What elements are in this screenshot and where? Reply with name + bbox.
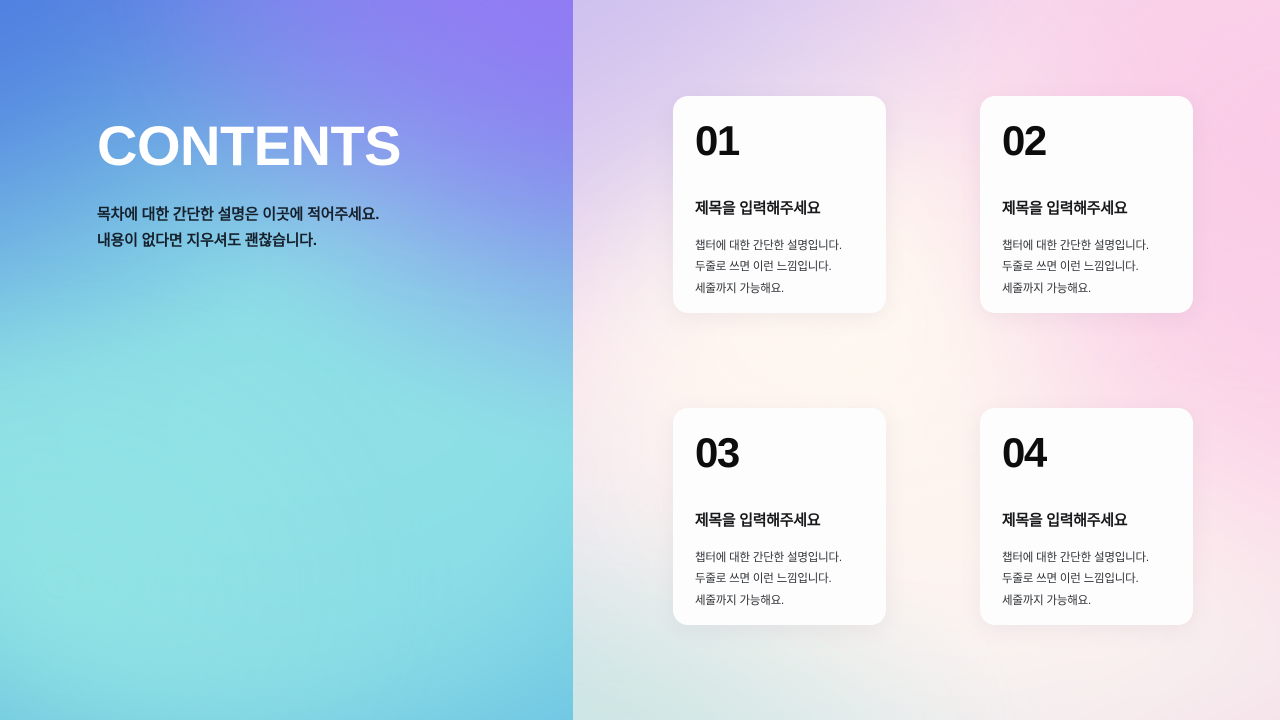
contents-slide: CONTENTS 목차에 대한 간단한 설명은 이곳에 적어주세요. 내용이 없… [0,0,1280,720]
card-description-line-2: 두줄로 쓰면 이런 느낌입니다. [1002,569,1171,591]
card-description: 챕터에 대한 간단한 설명입니다. 두줄로 쓰면 이런 느낌입니다. 세줄까지 … [1002,236,1171,301]
page-subtitle-line-2: 내용이 없다면 지우셔도 괜찮습니다. [97,228,527,254]
content-card-03[interactable]: 03 제목을 입력해주세요 챕터에 대한 간단한 설명입니다. 두줄로 쓰면 이… [673,408,886,625]
content-card-01[interactable]: 01 제목을 입력해주세요 챕터에 대한 간단한 설명입니다. 두줄로 쓰면 이… [673,96,886,313]
left-gradient-panel: CONTENTS 목차에 대한 간단한 설명은 이곳에 적어주세요. 내용이 없… [0,0,573,720]
card-description-line-3: 세줄까지 가능해요. [695,591,864,613]
card-description-line-1: 챕터에 대한 간단한 설명입니다. [1002,548,1171,570]
card-description: 챕터에 대한 간단한 설명입니다. 두줄로 쓰면 이런 느낌입니다. 세줄까지 … [695,236,864,301]
card-number: 04 [1002,432,1171,474]
card-description-line-2: 두줄로 쓰면 이런 느낌입니다. [695,257,864,279]
content-card-04[interactable]: 04 제목을 입력해주세요 챕터에 대한 간단한 설명입니다. 두줄로 쓰면 이… [980,408,1193,625]
page-title: CONTENTS [97,118,527,174]
card-number: 01 [695,120,864,162]
page-subtitle-line-1: 목차에 대한 간단한 설명은 이곳에 적어주세요. [97,202,527,228]
card-description-line-1: 챕터에 대한 간단한 설명입니다. [695,236,864,258]
page-subtitle: 목차에 대한 간단한 설명은 이곳에 적어주세요. 내용이 없다면 지우셔도 괜… [97,202,527,254]
right-gradient-panel: 01 제목을 입력해주세요 챕터에 대한 간단한 설명입니다. 두줄로 쓰면 이… [573,0,1280,720]
left-gradient-layer-overlay [0,0,573,720]
card-number: 02 [1002,120,1171,162]
card-description-line-2: 두줄로 쓰면 이런 느낌입니다. [1002,257,1171,279]
card-description-line-3: 세줄까지 가능해요. [1002,279,1171,301]
card-description: 챕터에 대한 간단한 설명입니다. 두줄로 쓰면 이런 느낌입니다. 세줄까지 … [695,548,864,613]
card-title: 제목을 입력해주세요 [695,511,864,531]
card-description-line-3: 세줄까지 가능해요. [1002,591,1171,613]
card-title: 제목을 입력해주세요 [1002,511,1171,531]
card-number: 03 [695,432,864,474]
card-description: 챕터에 대한 간단한 설명입니다. 두줄로 쓰면 이런 느낌입니다. 세줄까지 … [1002,548,1171,613]
left-text-block: CONTENTS 목차에 대한 간단한 설명은 이곳에 적어주세요. 내용이 없… [97,118,527,254]
card-description-line-1: 챕터에 대한 간단한 설명입니다. [1002,236,1171,258]
content-card-grid: 01 제목을 입력해주세요 챕터에 대한 간단한 설명입니다. 두줄로 쓰면 이… [573,0,1280,720]
card-title: 제목을 입력해주세요 [1002,199,1171,219]
card-title: 제목을 입력해주세요 [695,199,864,219]
card-description-line-3: 세줄까지 가능해요. [695,279,864,301]
card-description-line-1: 챕터에 대한 간단한 설명입니다. [695,548,864,570]
card-description-line-2: 두줄로 쓰면 이런 느낌입니다. [695,569,864,591]
content-card-02[interactable]: 02 제목을 입력해주세요 챕터에 대한 간단한 설명입니다. 두줄로 쓰면 이… [980,96,1193,313]
